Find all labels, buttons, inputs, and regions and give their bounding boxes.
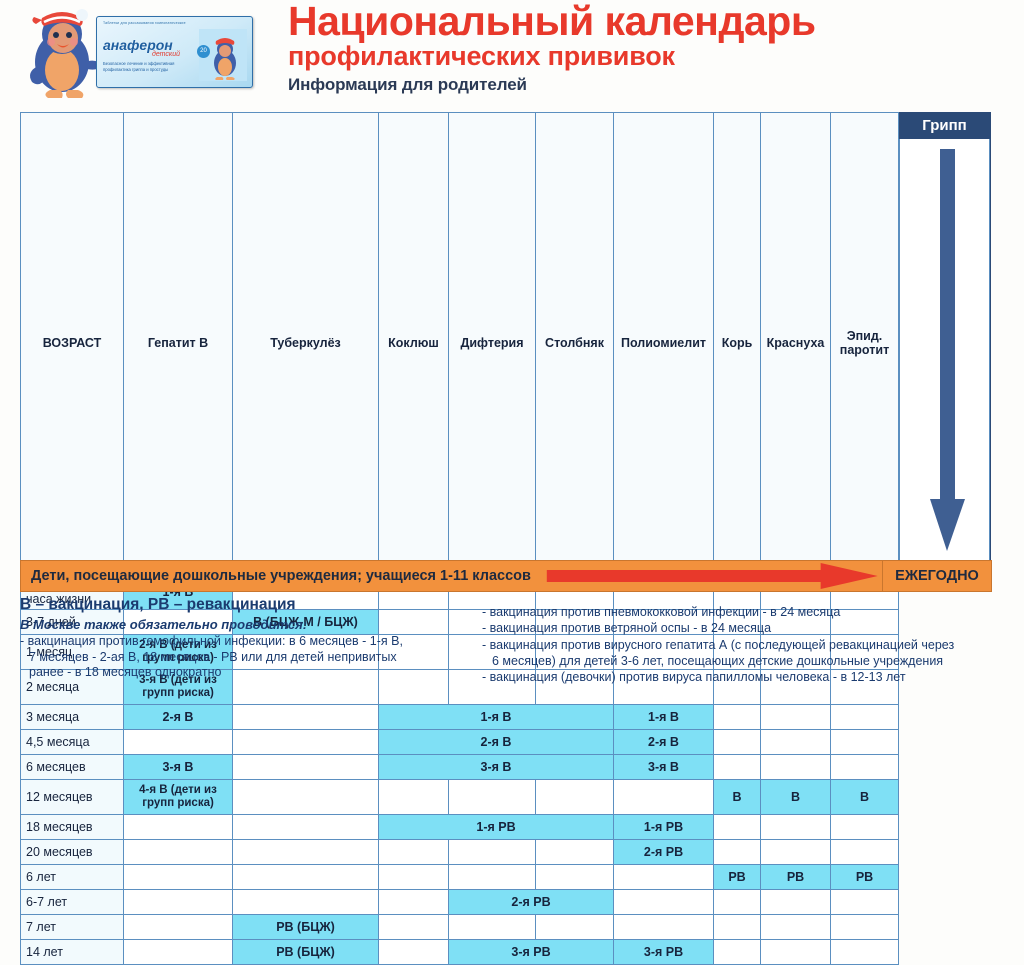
age-cell: 14 лет (21, 940, 124, 965)
col-header-pertussis: Коклюш (379, 113, 449, 575)
cell-diphtheria (449, 865, 536, 890)
cell-mumps (831, 730, 899, 755)
cell-hepb (124, 865, 233, 890)
cell-polio: 1-я РВ (614, 815, 714, 840)
cell-measles: РВ (714, 865, 761, 890)
cell-tb (233, 890, 379, 915)
cell-dt: 3-я РВ (449, 940, 614, 965)
cell-diphtheria (449, 780, 536, 815)
legend-text: В – вакцинация, РВ – ревакцинация (20, 596, 296, 613)
cell-dpt: 1-я РВ (379, 815, 614, 840)
cell-measles (714, 915, 761, 940)
preschool-banner: Дети, посещающие дошкольные учреждения; … (20, 560, 992, 592)
table-row: 6 месяцев 3-я В 3-я В 3-я В (21, 755, 991, 780)
cell-hepb (124, 840, 233, 865)
cell-mumps (831, 915, 899, 940)
influenza-arrow-cell (899, 139, 990, 574)
col-header-age: ВОЗРАСТ (21, 113, 124, 575)
footer-right-column: - вакцинация против пневмококковой инфек… (482, 604, 1024, 685)
preschool-banner-text: Дети, посещающие дошкольные учреждения; … (21, 568, 531, 584)
cell-rubella: РВ (761, 865, 831, 890)
influenza-label: Грипп (899, 113, 990, 139)
cell-rubella: В (761, 780, 831, 815)
cell-pertussis (379, 915, 449, 940)
list-item: - вакцинация против ветряной оспы - в 24… (482, 620, 1024, 636)
cell-measles (714, 840, 761, 865)
cell-dpt: 3-я В (379, 755, 614, 780)
cell-tetanus (536, 780, 614, 815)
col-header-mumps: Эпид. паротит (831, 113, 899, 575)
cell-rubella (761, 755, 831, 780)
cell-hepb: 3-я В (124, 755, 233, 780)
col-header-rubella: Краснуха (761, 113, 831, 575)
col-header-tetanus: Столбняк (536, 113, 614, 575)
product-package-image: Таблетки для рассасывания гомеопатически… (96, 16, 253, 88)
cell-hepb (124, 730, 233, 755)
footer-right-line-4: 6 месяцев) для детей 3-6 лет, посещающих… (482, 653, 1024, 669)
cell-rubella (761, 840, 831, 865)
cell-mumps: РВ (831, 865, 899, 890)
cell-mumps (831, 755, 899, 780)
cell-polio: 1-я В (614, 705, 714, 730)
cell-tb (233, 865, 379, 890)
vaccination-calendar-table: ВОЗРАСТ Гепатит В Туберкулёз Коклюш Дифт… (20, 112, 990, 965)
cell-pertussis (379, 840, 449, 865)
table-row: 4,5 месяца 2-я В 2-я В (21, 730, 991, 755)
age-cell: 18 месяцев (21, 815, 124, 840)
calendar-table: ВОЗРАСТ Гепатит В Туберкулёз Коклюш Дифт… (20, 112, 991, 965)
age-cell: 4,5 месяца (21, 730, 124, 755)
cell-polio (614, 865, 714, 890)
cell-polio (614, 915, 714, 940)
table-row: 3 месяца 2-я В 1-я В 1-я В (21, 705, 991, 730)
table-row: 18 месяцев 1-я РВ 1-я РВ (21, 815, 991, 840)
package-brand-sub: детский (152, 51, 180, 58)
page-subtitle: профилактических прививок (288, 42, 988, 70)
cell-tetanus (536, 915, 614, 940)
cell-mumps (831, 815, 899, 840)
cell-hepb (124, 890, 233, 915)
cell-polio (614, 890, 714, 915)
cell-tb (233, 815, 379, 840)
cell-measles (714, 815, 761, 840)
cell-polio: 3-я РВ (614, 940, 714, 965)
age-cell: 20 месяцев (21, 840, 124, 865)
list-item: - вакцинация против пневмококковой инфек… (482, 604, 1024, 620)
cell-mumps (831, 840, 899, 865)
age-cell: 12 месяцев (21, 780, 124, 815)
cell-tb (233, 730, 379, 755)
cell-polio: 3-я В (614, 755, 714, 780)
footer-left-line-2: 7 месяцев - 2-ая В, 18 месяцев - РВ или … (20, 650, 470, 666)
page-title: Национальный календарь (288, 2, 988, 41)
package-body-text: Безопасное лечение и эффективная профила… (103, 61, 195, 74)
col-header-measles: Корь (714, 113, 761, 575)
col-header-tuberculosis: Туберкулёз (233, 113, 379, 575)
list-item: - вакцинация против гемофильной инфекции… (20, 634, 470, 681)
footer-right-line-5: - вакцинация (девочки) против вируса пап… (482, 670, 906, 684)
cell-rubella (761, 940, 831, 965)
cell-tetanus (536, 840, 614, 865)
poster-title-block: Национальный календарь профилактических … (288, 2, 988, 95)
footer-right-line-3: - вакцинация против вирусного гепатита А… (482, 638, 954, 652)
table-row: 14 лет РВ (БЦЖ) 3-я РВ 3-я РВ (21, 940, 991, 965)
cell-measles (714, 890, 761, 915)
red-arrow-container (531, 561, 882, 591)
cell-rubella (761, 705, 831, 730)
col-header-hepatitis-b: Гепатит В (124, 113, 233, 575)
age-cell: 7 лет (21, 915, 124, 940)
moscow-heading: В Москве также обязательно проводится: (20, 617, 470, 632)
cell-mumps: В (831, 780, 899, 815)
col-header-diphtheria: Дифтерия (449, 113, 536, 575)
cell-measles (714, 705, 761, 730)
cell-tb (233, 840, 379, 865)
cell-dpt: 2-я В (379, 730, 614, 755)
age-cell: 3 месяца (21, 705, 124, 730)
cell-hepb: 2-я В (124, 705, 233, 730)
cell-measles (714, 730, 761, 755)
cell-polio: 2-я В (614, 730, 714, 755)
cell-pertussis (379, 890, 449, 915)
table-row: 6 лет РВ РВ РВ (21, 865, 991, 890)
cell-rubella (761, 815, 831, 840)
cell-measles: В (714, 780, 761, 815)
cell-tb (233, 705, 379, 730)
cell-polio: 2-я РВ (614, 840, 714, 865)
col-header-influenza: Грипп (899, 113, 991, 575)
poster-header: Таблетки для рассасывания гомеопатически… (0, 0, 1024, 108)
footer-right-line-1: - вакцинация против пневмококковой инфек… (482, 605, 840, 619)
cell-mumps (831, 890, 899, 915)
cell-measles (714, 755, 761, 780)
legend-line: В – вакцинация, РВ – ревакцинация (20, 596, 470, 614)
right-arrow-icon (531, 561, 882, 591)
cell-tb: РВ (БЦЖ) (233, 940, 379, 965)
footer-left-line-1: - вакцинация против гемофильной инфекции… (20, 634, 403, 648)
cell-hepb (124, 815, 233, 840)
age-cell: 6 лет (21, 865, 124, 890)
table-header-row: ВОЗРАСТ Гепатит В Туберкулёз Коклюш Дифт… (21, 113, 991, 575)
cell-dt: 2-я РВ (449, 890, 614, 915)
cell-mumps (831, 705, 899, 730)
annual-label: ЕЖЕГОДНО (882, 561, 991, 591)
cell-tetanus (536, 865, 614, 890)
cell-pertussis (379, 865, 449, 890)
age-cell: 6-7 лет (21, 890, 124, 915)
cell-hepb: 4-я В (дети из групп риска) (124, 780, 233, 815)
package-count-badge: 20 (197, 45, 210, 58)
footer-left-line-3: ранее - в 18 месяцев однократно (20, 665, 470, 681)
list-item: - вакцинация (девочки) против вируса пап… (482, 669, 1024, 685)
footer-right-line-2: - вакцинация против ветряной оспы - в 24… (482, 621, 771, 635)
cell-diphtheria (449, 915, 536, 940)
cell-pertussis (379, 780, 449, 815)
cell-measles (714, 940, 761, 965)
cell-dpt: 1-я В (379, 705, 614, 730)
cell-tb: РВ (БЦЖ) (233, 915, 379, 940)
list-item: - вакцинация против вирусного гепатита А… (482, 637, 1024, 670)
cell-diphtheria (449, 840, 536, 865)
cell-tb (233, 755, 379, 780)
cell-pertussis (379, 940, 449, 965)
footer-left-column: В – вакцинация, РВ – ревакцинация В Моск… (20, 596, 470, 681)
cell-rubella (761, 915, 831, 940)
down-arrow-icon (900, 139, 992, 574)
cell-hepb (124, 940, 233, 965)
cell-tb (233, 780, 379, 815)
package-top-line: Таблетки для рассасывания гомеопатически… (103, 21, 186, 25)
age-cell: 6 месяцев (21, 755, 124, 780)
cell-rubella (761, 890, 831, 915)
cell-hepb (124, 915, 233, 940)
col-header-poliomyelitis: Полиомиелит (614, 113, 714, 575)
cell-mumps (831, 940, 899, 965)
page-tagline: Информация для родителей (288, 75, 988, 95)
table-row: 6-7 лет 2-я РВ (21, 890, 991, 915)
cell-rubella (761, 730, 831, 755)
table-row: 12 месяцев 4-я В (дети из групп риска) В… (21, 780, 991, 815)
table-row: 20 месяцев 2-я РВ (21, 840, 991, 865)
cell-polio (614, 780, 714, 815)
table-row: 7 лет РВ (БЦЖ) (21, 915, 991, 940)
